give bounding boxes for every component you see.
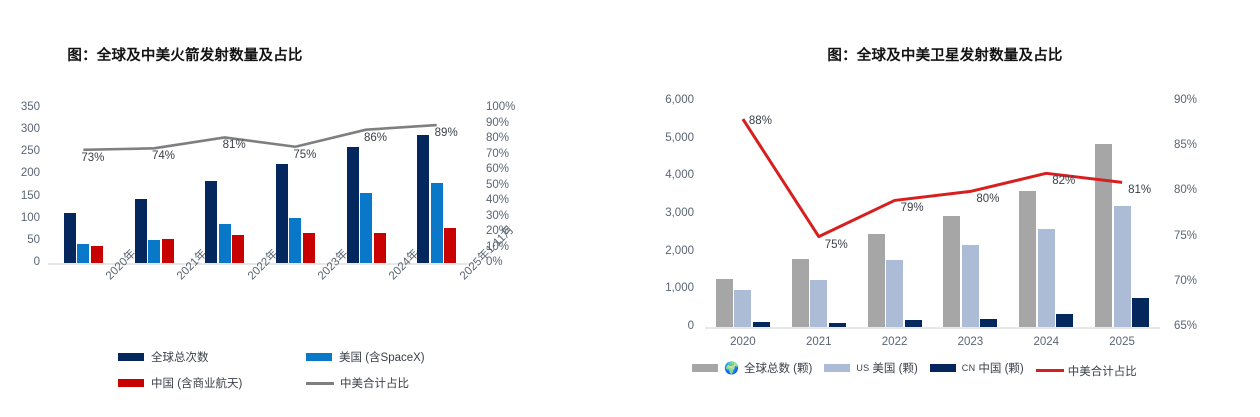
y-axis-right-tick: 85% (1174, 140, 1197, 152)
legend-color-swatch (824, 364, 850, 372)
legend-color-swatch (118, 353, 144, 361)
y-axis-left-tick: 350 (8, 102, 40, 114)
x-axis-category-label: 2021 (803, 336, 835, 348)
y-axis-right-tick: 100% (486, 102, 515, 114)
y-axis-right-tick: 70% (486, 149, 509, 161)
bar-cn (91, 246, 103, 263)
y-axis-right-tick: 30% (486, 211, 509, 223)
bar-us (962, 245, 979, 327)
y-axis-right-tick: 50% (486, 180, 509, 192)
legend-line-swatch (306, 382, 334, 385)
bar-global (716, 279, 733, 327)
line-data-label: 81% (223, 139, 246, 151)
legend-item-label: 中国 (含商业航天) (151, 375, 242, 391)
bar-cn (980, 319, 997, 327)
line-data-label: 73% (81, 152, 104, 164)
bar-global (64, 213, 76, 263)
bar-cn (1132, 298, 1149, 327)
line-data-label: 80% (976, 193, 999, 205)
y-axis-left-tick: 1,000 (646, 283, 694, 295)
bar-us (1114, 206, 1131, 327)
bar-global (943, 216, 960, 327)
legend-country-code: US (856, 363, 869, 373)
line-data-label: 75% (293, 149, 316, 161)
y-axis-right-tick: 80% (1174, 185, 1197, 197)
x-axis-category-label: 2022 (879, 336, 911, 348)
bar-global (1095, 144, 1112, 327)
y-axis-right-tick: 75% (1174, 231, 1197, 243)
legend-item-0: 全球总次数 (118, 349, 209, 365)
legend-item-3: 中美合计占比 (306, 375, 409, 391)
legend-item-3: 中美合计占比 (1036, 363, 1137, 379)
legend-item-0: 🌍全球总数 (颗) (692, 360, 812, 376)
bar-cn (1056, 314, 1073, 327)
bar-cn (303, 233, 315, 263)
bar-global (792, 259, 809, 327)
bar-cn (444, 228, 456, 263)
satellite-chart-plot: 6,0005,0004,0003,0002,0001,000090%85%80%… (630, 0, 1260, 417)
bar-global (205, 181, 217, 263)
line-data-label: 86% (364, 132, 387, 144)
bar-global (347, 147, 359, 263)
y-axis-left-tick: 50 (8, 235, 40, 247)
y-axis-left-tick: 0 (8, 257, 40, 269)
bar-us (360, 193, 372, 263)
bar-cn (753, 322, 770, 327)
legend-item-label: 全球总数 (颗) (744, 360, 812, 376)
legend-line-swatch (1036, 369, 1064, 372)
legend-item-1: US美国 (颗) (824, 360, 917, 376)
bar-global (135, 199, 147, 263)
legend-item-label: 中美合计占比 (1068, 363, 1137, 379)
y-axis-left-tick: 4,000 (646, 170, 694, 182)
bar-us (77, 244, 89, 263)
bar-global (868, 234, 885, 327)
bar-us (1038, 229, 1055, 327)
bar-us (431, 183, 443, 263)
satellite-launch-chart-panel: 图：全球及中美卫星发射数量及占比 6,0005,0004,0003,0002,0… (630, 0, 1260, 417)
bar-cn (232, 235, 244, 263)
legend-color-swatch (306, 353, 332, 361)
x-axis-category-label: 2025 (1106, 336, 1138, 348)
line-data-label: 88% (749, 115, 772, 127)
bar-us (734, 290, 751, 327)
line-data-label: 74% (152, 150, 175, 162)
bar-global (1019, 191, 1036, 327)
bar-us (886, 260, 903, 327)
legend-color-swatch (930, 364, 956, 372)
legend-item-1: 美国 (含SpaceX) (306, 349, 425, 365)
legend-item-label: 中美合计占比 (340, 375, 409, 391)
bar-global (276, 164, 288, 263)
x-axis-category-label: 2020 (727, 336, 759, 348)
y-axis-right-tick: 90% (486, 118, 509, 130)
line-data-label: 75% (825, 239, 848, 251)
bar-us (810, 280, 827, 327)
legend-item-label: 美国 (颗) (872, 360, 917, 376)
bar-global (417, 135, 429, 263)
percentage-line-series (630, 0, 1260, 417)
legend-item-label: 中国 (颗) (978, 360, 1023, 376)
y-axis-left-tick: 2,000 (646, 246, 694, 258)
y-axis-left-tick: 300 (8, 124, 40, 136)
rocket-launch-chart-panel: 图：全球及中美火箭发射数量及占比 35030025020015010050010… (0, 0, 630, 417)
y-axis-right-tick: 70% (1174, 276, 1197, 288)
legend-color-swatch (692, 364, 718, 372)
legend-item-2: CN中国 (颗) (930, 360, 1024, 376)
x-axis-category-label: 2023 (954, 336, 986, 348)
legend-color-swatch (118, 379, 144, 387)
x-axis-baseline (705, 327, 1160, 329)
y-axis-left-tick: 3,000 (646, 208, 694, 220)
bar-cn (905, 320, 922, 327)
y-axis-right-tick: 65% (1174, 321, 1197, 333)
bar-us (148, 240, 160, 263)
bar-cn (374, 233, 386, 263)
legend-country-code: CN (962, 363, 976, 373)
legend-item-2: 中国 (含商业航天) (118, 375, 242, 391)
y-axis-right-tick: 60% (486, 164, 509, 176)
y-axis-left-tick: 5,000 (646, 133, 694, 145)
line-data-label: 82% (1052, 175, 1075, 187)
line-data-label: 89% (435, 127, 458, 139)
line-data-label: 81% (1128, 184, 1151, 196)
bar-cn (162, 239, 174, 263)
y-axis-left-tick: 150 (8, 191, 40, 203)
y-axis-left-tick: 6,000 (646, 95, 694, 107)
x-axis-category-label: 2024 (1030, 336, 1062, 348)
bar-cn (829, 323, 846, 327)
line-data-label: 79% (901, 202, 924, 214)
bar-us (289, 218, 301, 263)
legend-row: 🌍全球总数 (颗)US美国 (颗)CN中国 (颗)中美合计占比 (692, 360, 1149, 379)
y-axis-left-tick: 0 (646, 321, 694, 333)
y-axis-right-tick: 90% (1174, 95, 1197, 107)
y-axis-left-tick: 250 (8, 146, 40, 158)
y-axis-right-tick: 40% (486, 195, 509, 207)
bar-us (219, 224, 231, 263)
globe-icon: 🌍 (724, 362, 739, 374)
legend-item-label: 美国 (含SpaceX) (339, 349, 425, 365)
y-axis-left-tick: 100 (8, 213, 40, 225)
y-axis-right-tick: 80% (486, 133, 509, 145)
legend-item-label: 全球总次数 (151, 349, 209, 365)
y-axis-left-tick: 200 (8, 168, 40, 180)
